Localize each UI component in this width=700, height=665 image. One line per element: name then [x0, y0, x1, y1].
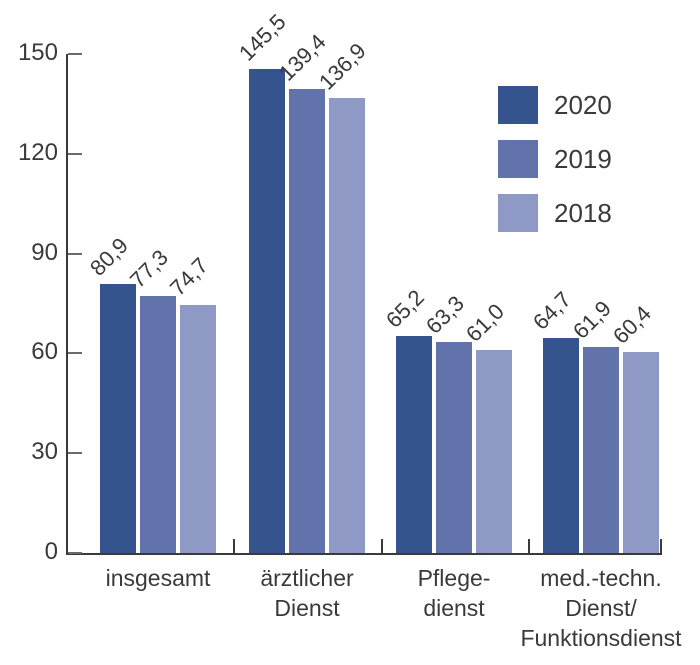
bar — [623, 352, 659, 553]
bar — [436, 342, 472, 553]
x-axis-category-label: med.-techn.Dienst/Funktionsdienst — [501, 563, 700, 653]
legend-label: 2019 — [554, 142, 612, 176]
x-axis-line — [66, 553, 662, 555]
y-axis-tick-label: 0 — [0, 540, 58, 564]
bar — [180, 305, 216, 554]
bar — [543, 338, 579, 553]
bar-chart: 0306090120150 80,977,374,7145,5139,4136,… — [0, 0, 700, 665]
y-axis-tick-label-text: 90 — [6, 241, 58, 265]
y-axis-tick-label: 60 — [0, 340, 58, 364]
bar — [289, 89, 325, 553]
legend-label: 2018 — [554, 196, 612, 230]
bar — [583, 347, 619, 553]
y-axis-tick-label-text: 60 — [6, 340, 58, 364]
y-axis-tick-label: 90 — [0, 241, 58, 265]
y-axis-tick-label-text: 150 — [6, 41, 58, 65]
legend-swatch — [498, 140, 538, 178]
x-axis-category-label-line: Funktionsdienst — [501, 623, 700, 653]
bar — [249, 69, 285, 553]
y-axis-tick-label: 150 — [0, 41, 58, 65]
y-axis-tick-label-text: 120 — [6, 141, 58, 165]
bar — [329, 98, 365, 553]
y-axis-tick-label-text: 30 — [6, 440, 58, 464]
legend-swatch — [498, 194, 538, 232]
bar — [100, 284, 136, 553]
y-axis-tick-label-text: 0 — [6, 540, 58, 564]
bar — [476, 350, 512, 553]
bar — [140, 296, 176, 553]
x-axis-tick — [660, 539, 662, 553]
legend-label: 2020 — [554, 88, 612, 122]
x-axis-category-label-line: Dienst/ — [501, 593, 700, 623]
y-axis-tick-label: 30 — [0, 440, 58, 464]
x-axis-category-label-line: med.-techn. — [501, 563, 700, 593]
bar — [396, 336, 432, 553]
legend-swatch — [498, 86, 538, 124]
y-axis-tick-label: 120 — [0, 141, 58, 165]
